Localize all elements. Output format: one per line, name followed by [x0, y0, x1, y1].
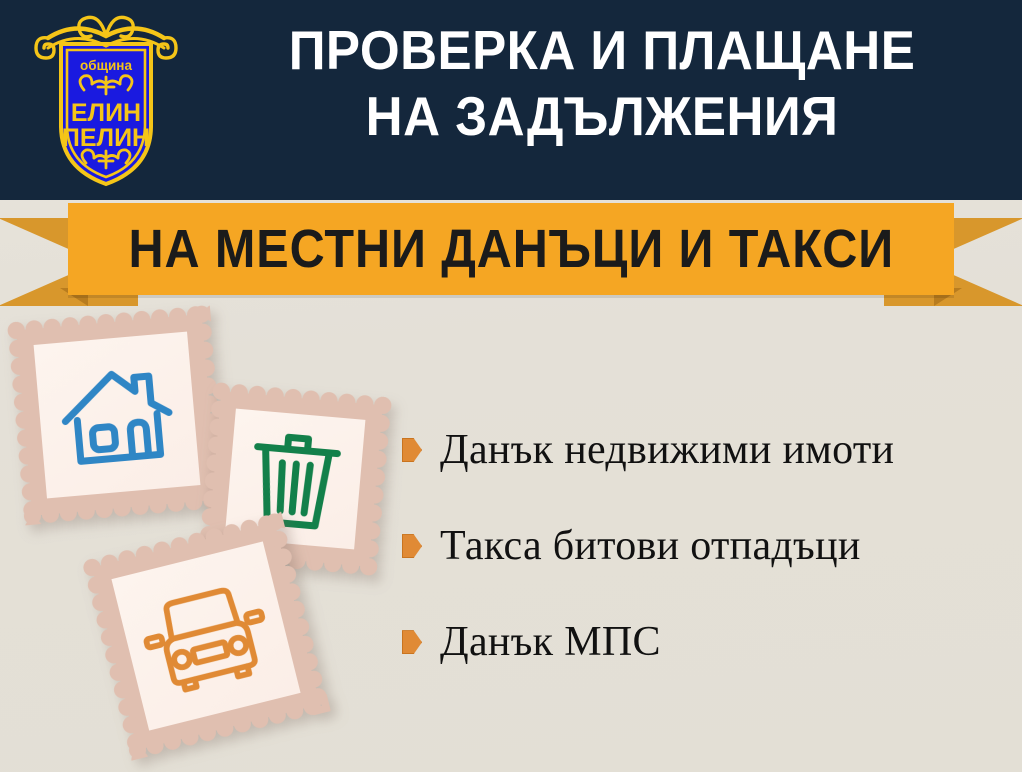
list-item-label: Такса битови отпадъци — [440, 524, 861, 568]
stamp-paper — [34, 332, 201, 499]
ribbon-label: НА МЕСТНИ ДАНЪЦИ И ТАКСИ — [128, 222, 894, 276]
poster-header: община ЕЛИН ПЕЛИН — [0, 0, 1022, 200]
title-line-2: НА ЗАДЪЛЖЕНИЯ — [224, 88, 979, 144]
tax-type-list: Данък недвижими имоти Такса битови отпад… — [402, 428, 1012, 664]
arrow-bullet-icon — [402, 438, 422, 462]
subtitle-ribbon: НА МЕСТНИ ДАНЪЦИ И ТАКСИ — [0, 196, 1022, 308]
title-line-1: ПРОВЕРКА И ПЛАЩАНЕ — [224, 22, 979, 78]
list-item-label: Данък МПС — [440, 620, 661, 664]
list-item-label: Данък недвижими имоти — [440, 428, 894, 472]
coat-of-arms-shield-icon: община ЕЛИН ПЕЛИН — [30, 8, 182, 194]
arrow-bullet-icon — [402, 630, 422, 654]
house-icon — [52, 355, 181, 475]
list-item: Данък МПС — [402, 620, 1012, 664]
crest-name-line-1: ЕЛИН — [71, 99, 141, 127]
crest-name-line-2: ПЕЛИН — [62, 124, 150, 152]
list-item: Данък недвижими имоти — [402, 428, 1012, 472]
arrow-bullet-icon — [402, 534, 422, 558]
car-icon — [133, 572, 280, 700]
stamp-card-house — [16, 314, 218, 516]
poster-title: ПРОВЕРКА И ПЛАЩАНЕ НА ЗАДЪЛЖЕНИЯ — [196, 22, 1008, 144]
stamp-paper — [111, 541, 300, 730]
crest-municipality-word: община — [80, 58, 132, 73]
poster-canvas: община ЕЛИН ПЕЛИН — [0, 0, 1022, 772]
ribbon-banner: НА МЕСТНИ ДАНЪЦИ И ТАКСИ — [68, 203, 954, 295]
list-item: Такса битови отпадъци — [402, 524, 1012, 568]
